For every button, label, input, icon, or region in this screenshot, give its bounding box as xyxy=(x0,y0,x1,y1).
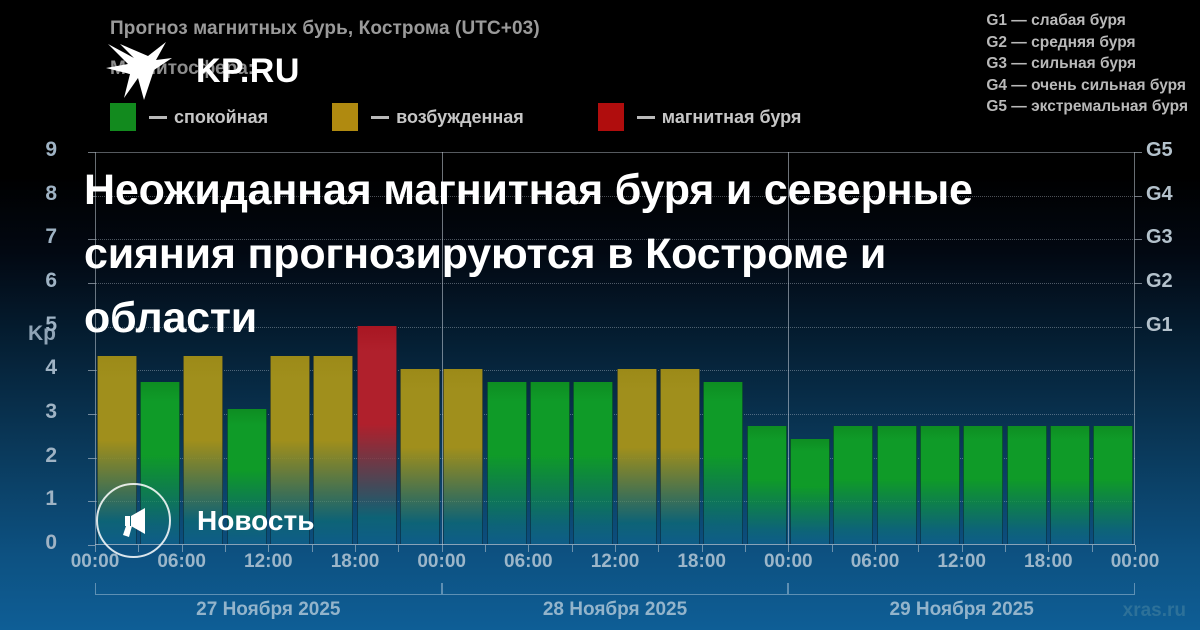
source-watermark: xras.ru xyxy=(1123,600,1186,622)
legend-label-unsettled: возбужденная xyxy=(396,107,524,128)
y-tick-label-7: 7 xyxy=(17,225,57,249)
bar-29-06-00 xyxy=(877,426,917,544)
x-tick-23 xyxy=(1092,545,1093,552)
x-tick-label-4: 00:00 xyxy=(417,551,466,573)
bar-28-15-00 xyxy=(660,369,700,544)
x-tick-19 xyxy=(918,545,919,552)
bar-28-09-00 xyxy=(573,382,613,544)
x-tick-label-3: 18:00 xyxy=(331,551,380,573)
megaphone-icon xyxy=(96,483,171,558)
legend-dash-icon xyxy=(149,116,167,119)
bar-28-12-00 xyxy=(617,369,657,544)
bird-logo-icon xyxy=(104,38,176,104)
g-tick-G1 xyxy=(1135,327,1142,328)
g-scale-line-1: G1 — слабая буря xyxy=(986,10,1188,32)
g-tick-label-G4: G4 xyxy=(1146,183,1173,206)
bar-29-00-00 xyxy=(790,439,830,544)
y-tick-label-0: 0 xyxy=(17,531,57,555)
x-tick-label-7: 18:00 xyxy=(677,551,726,573)
x-tick-12 xyxy=(615,545,616,552)
legend-swatch-unsettled xyxy=(332,103,358,131)
y-tick-9 xyxy=(88,152,95,153)
y-tick-label-5: 5 xyxy=(17,313,57,337)
bar-29-12-00 xyxy=(963,426,1003,544)
g-scale-line-5: G5 — экстремальная буря xyxy=(986,96,1188,118)
g-scale-legend: G1 — слабая буряG2 — средняя буряG3 — си… xyxy=(986,10,1188,118)
g-scale-line-3: G3 — сильная буря xyxy=(986,53,1188,75)
day-bracket-1 xyxy=(95,583,442,595)
g-tick-G5 xyxy=(1135,152,1142,153)
bar-28-18-00 xyxy=(703,382,743,544)
bar-29-21-00 xyxy=(1093,426,1133,544)
chart-header-title: Прогноз магнитных бурь, Кострома (UTC+03… xyxy=(110,18,540,40)
x-tick-8 xyxy=(442,545,443,552)
legend-dash-icon xyxy=(371,116,389,119)
x-tick-label-6: 12:00 xyxy=(591,551,640,573)
x-tick-13 xyxy=(658,545,659,552)
x-tick-14 xyxy=(702,545,703,552)
y-tick-1 xyxy=(88,501,95,502)
x-tick-16 xyxy=(788,545,789,552)
x-tick-18 xyxy=(875,545,876,552)
day-bracket-3 xyxy=(788,583,1135,595)
bar-27-21-00 xyxy=(400,369,440,544)
y-tick-label-2: 2 xyxy=(17,444,57,468)
x-tick-label-11: 18:00 xyxy=(1024,551,1073,573)
g-tick-G2 xyxy=(1135,283,1142,284)
x-tick-label-12: 00:00 xyxy=(1111,551,1160,573)
bar-29-18-00 xyxy=(1050,426,1090,544)
bar-27-18-00 xyxy=(357,326,397,544)
x-tick-17 xyxy=(832,545,833,552)
magnetosphere-legend: спокойнаявозбужденнаямагнитная буря xyxy=(110,103,801,131)
g-tick-label-G3: G3 xyxy=(1146,226,1173,249)
x-tick-20 xyxy=(962,545,963,552)
x-tick-label-9: 06:00 xyxy=(851,551,900,573)
brand-wordmark: KP.RU xyxy=(196,52,300,91)
legend-item-storm: магнитная буря xyxy=(598,103,802,131)
legend-swatch-storm xyxy=(598,103,624,131)
bar-28-21-00 xyxy=(747,426,787,544)
y-tick-3 xyxy=(88,414,95,415)
day-label-3: 29 Ноября 2025 xyxy=(890,599,1034,621)
x-tick-label-8: 00:00 xyxy=(764,551,813,573)
g-tick-label-G2: G2 xyxy=(1146,270,1173,293)
day-bracket-2 xyxy=(442,583,789,595)
x-tick-label-5: 06:00 xyxy=(504,551,553,573)
y-tick-label-6: 6 xyxy=(17,269,57,293)
g-tick-label-G1: G1 xyxy=(1146,314,1173,337)
bar-27-15-00 xyxy=(313,356,353,544)
news-badge-label: Новость xyxy=(197,505,314,537)
legend-label-calm: спокойная xyxy=(174,107,268,128)
g-scale-line-4: G4 — очень сильная буря xyxy=(986,75,1188,97)
y-tick-label-9: 9 xyxy=(17,138,57,162)
g-tick-label-G5: G5 xyxy=(1146,139,1173,162)
y-tick-label-1: 1 xyxy=(17,487,57,511)
bar-28-06-00 xyxy=(530,382,570,544)
legend-item-calm: спокойная xyxy=(110,103,268,131)
news-badge: Новость xyxy=(96,483,314,558)
y-tick-4 xyxy=(88,370,95,371)
y-tick-0 xyxy=(88,545,95,546)
bar-29-15-00 xyxy=(1007,426,1047,544)
y-tick-label-3: 3 xyxy=(17,400,57,424)
legend-item-unsettled: возбужденная xyxy=(332,103,524,131)
g-tick-G4 xyxy=(1135,196,1142,197)
day-label-2: 28 Ноября 2025 xyxy=(543,599,687,621)
bar-29-09-00 xyxy=(920,426,960,544)
x-tick-21 xyxy=(1005,545,1006,552)
y-tick-2 xyxy=(88,458,95,459)
x-tick-11 xyxy=(572,545,573,552)
y-tick-label-4: 4 xyxy=(17,356,57,380)
x-tick-7 xyxy=(398,545,399,552)
bar-28-03-00 xyxy=(487,382,527,544)
x-tick-24 xyxy=(1135,545,1136,552)
x-tick-label-10: 12:00 xyxy=(937,551,986,573)
g-scale-line-2: G2 — средняя буря xyxy=(986,32,1188,54)
legend-label-storm: магнитная буря xyxy=(662,107,802,128)
page-title: Неожиданная магнитная буря и северные си… xyxy=(84,158,984,350)
x-tick-6 xyxy=(355,545,356,552)
x-tick-9 xyxy=(485,545,486,552)
legend-swatch-calm xyxy=(110,103,136,131)
legend-dash-icon xyxy=(637,116,655,119)
x-tick-15 xyxy=(745,545,746,552)
y-tick-label-8: 8 xyxy=(17,182,57,206)
g-tick-G3 xyxy=(1135,239,1142,240)
bar-28-00-00 xyxy=(443,369,483,544)
day-label-1: 27 Ноября 2025 xyxy=(196,599,340,621)
bar-29-03-00 xyxy=(833,426,873,544)
x-tick-22 xyxy=(1048,545,1049,552)
x-tick-10 xyxy=(528,545,529,552)
